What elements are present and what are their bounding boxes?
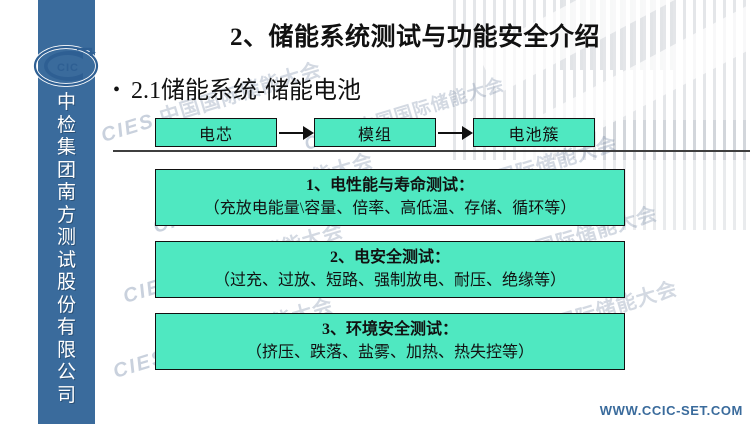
sidebar-company-char-7: 试 — [38, 250, 95, 273]
sidebar-company-char-1: 检 — [38, 115, 95, 138]
test-category-box-3: 3、环境安全测试： （挤压、跌落、盐雾、加热、热失控等） — [155, 313, 625, 370]
sidebar-company-char-11: 限 — [38, 340, 95, 363]
test-category-box-2: 2、电安全测试： （过充、过放、短路、强制放电、耐压、绝缘等） — [155, 241, 625, 298]
sidebar-company-char-13: 司 — [38, 385, 95, 408]
sidebar-company-name: 中 检 集 团 南 方 测 试 股 份 有 限 公 司 — [38, 92, 95, 372]
watermark-brand-1: CIES — [99, 110, 158, 147]
sidebar-company-char-6: 测 — [38, 227, 95, 250]
flow-node-cell: 电芯 — [155, 118, 277, 147]
slide-canvas: CIES 中国国际储能大会 CIES 中国国际储能大会 CIES 中国国际储能大… — [0, 0, 753, 424]
section-divider — [113, 150, 750, 152]
flow-node-module: 模组 — [314, 118, 436, 147]
flow-arrow-2-icon — [436, 126, 473, 140]
page-title: 2、储能系统测试与功能安全介绍 — [100, 17, 730, 53]
bullet-icon: • — [113, 79, 120, 102]
test-category-box-1: 1、电性能与寿命测试： （充放电能量\容量、倍率、高低温、存储、循环等） — [155, 169, 625, 226]
test-category-2-heading: 2、电安全测试： — [330, 247, 450, 269]
test-category-3-detail: （挤压、跌落、盐雾、加热、热失控等） — [246, 341, 534, 365]
sidebar-company-char-2: 集 — [38, 137, 95, 160]
ccic-logo: CIC — [33, 44, 99, 88]
page-subtitle: •2.1储能系统-储能电池 — [113, 70, 361, 105]
page-subtitle-text: 2.1储能系统-储能电池 — [131, 78, 361, 104]
sidebar-company-char-8: 股 — [38, 272, 95, 295]
flow-node-cluster: 电池簇 — [473, 118, 595, 147]
watermark-stripes-right — [603, 120, 753, 230]
sidebar-company-char-4: 南 — [38, 182, 95, 205]
footer-website-url[interactable]: WWW.CCIC-SET.COM — [600, 403, 743, 418]
sidebar-company-char-0: 中 — [38, 92, 95, 115]
sidebar-company-char-5: 方 — [38, 205, 95, 228]
svg-text:CIC: CIC — [57, 62, 79, 74]
flow-arrow-1-icon — [277, 126, 314, 140]
test-category-2-detail: （过充、过放、短路、强制放电、耐压、绝缘等） — [214, 269, 566, 293]
sidebar-company-char-3: 团 — [38, 160, 95, 183]
test-category-1-detail: （充放电能量\容量、倍率、高低温、存储、循环等） — [204, 197, 576, 221]
sidebar-company-char-12: 公 — [38, 362, 95, 385]
sidebar-company-char-10: 有 — [38, 317, 95, 340]
test-category-1-heading: 1、电性能与寿命测试： — [306, 175, 474, 197]
battery-hierarchy-flow: 电芯 模组 电池簇 — [155, 116, 595, 149]
test-category-3-heading: 3、环境安全测试： — [322, 319, 458, 341]
sidebar-company-char-9: 份 — [38, 295, 95, 318]
